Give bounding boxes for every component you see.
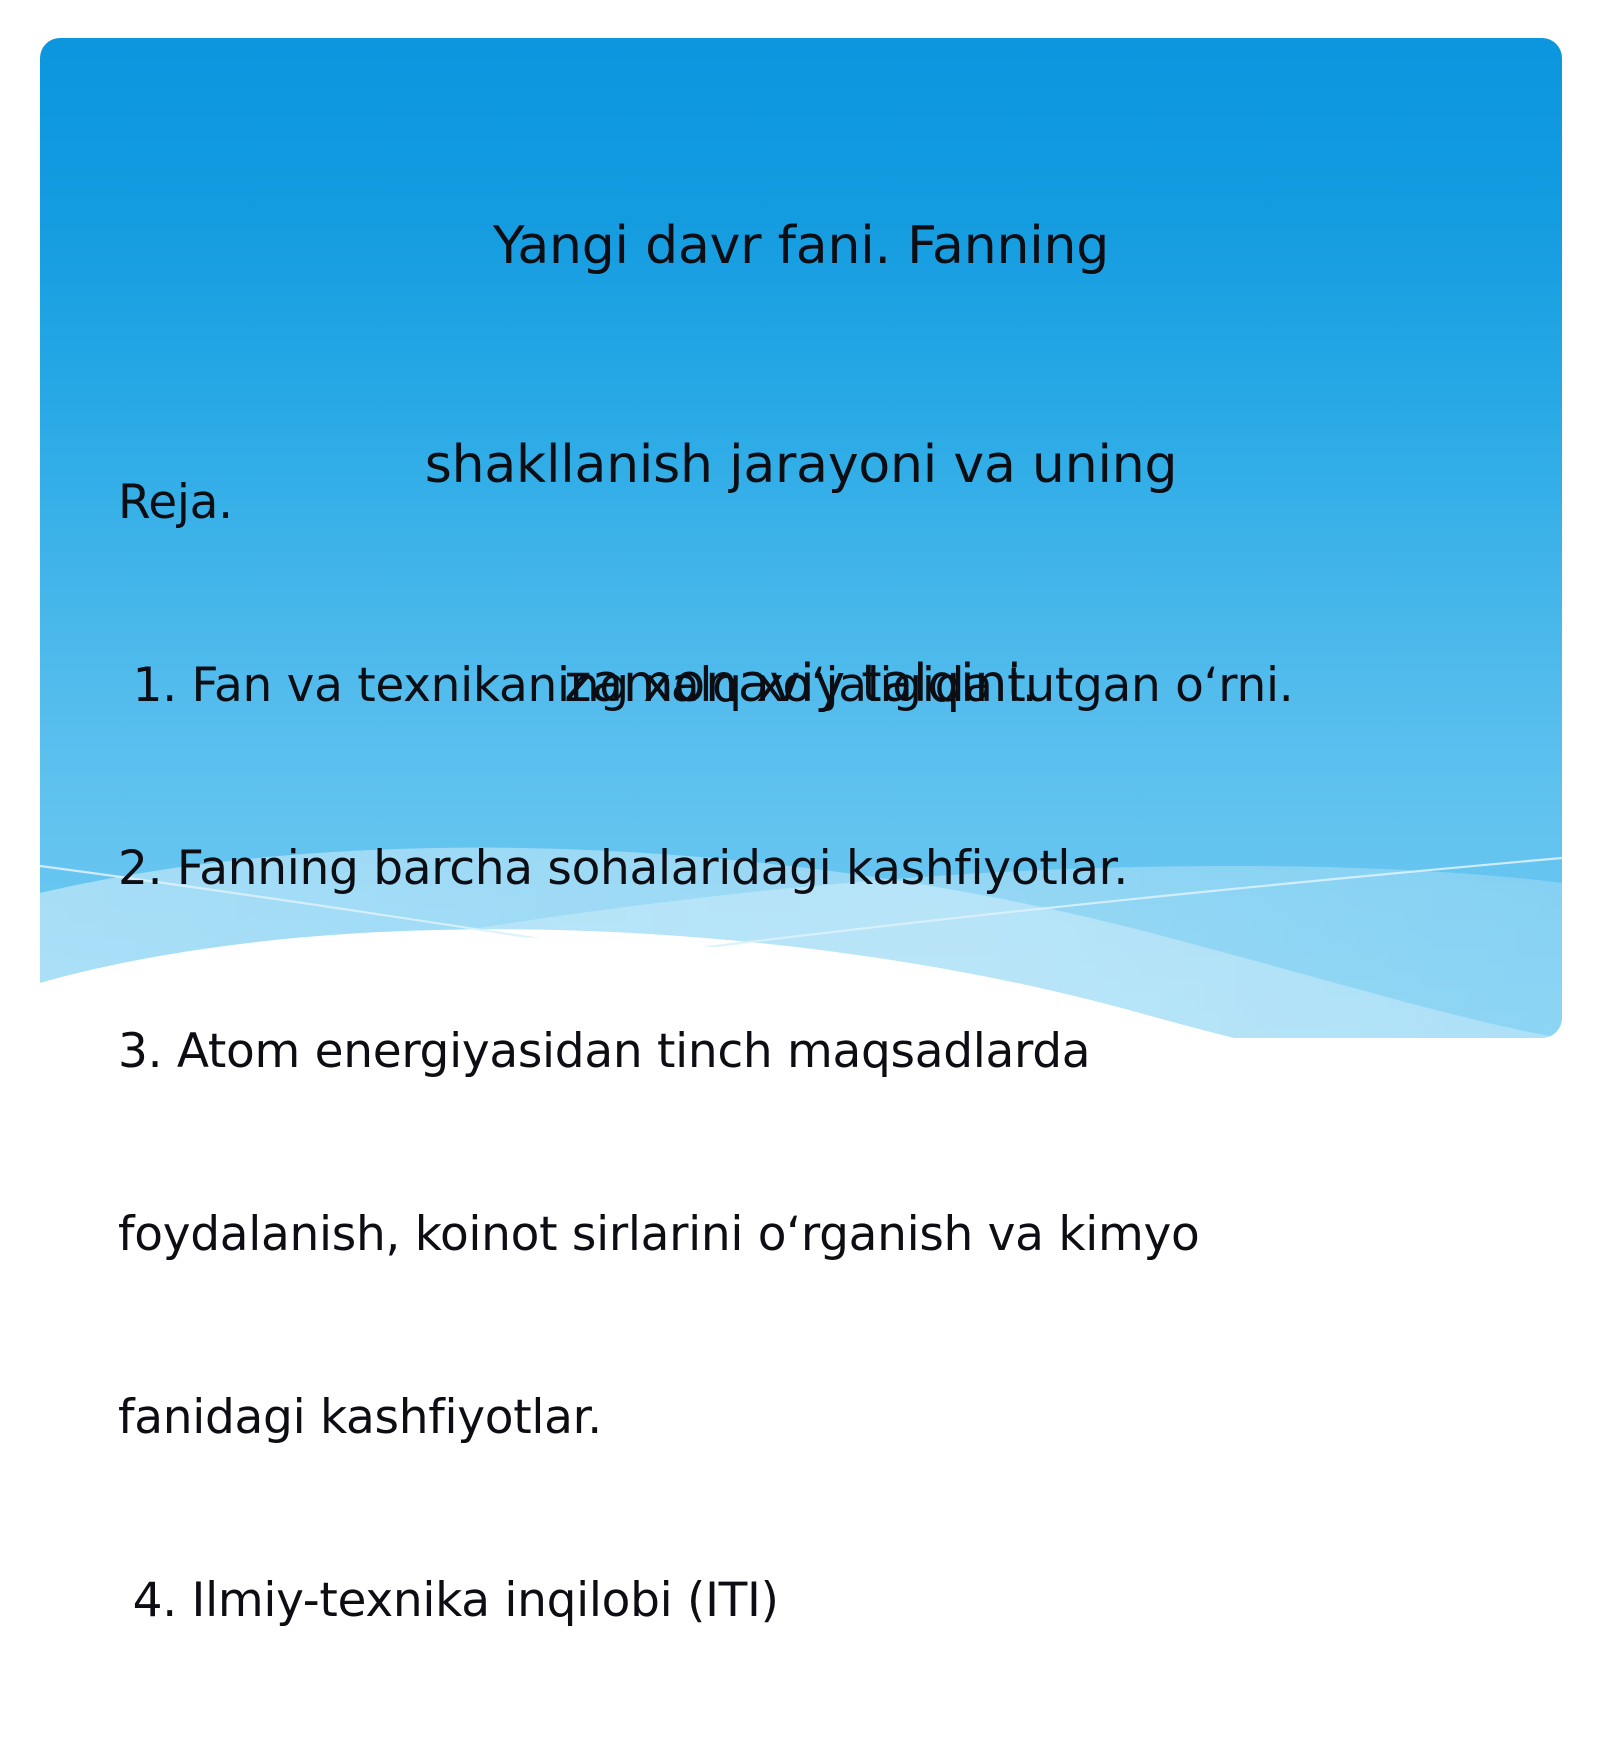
body-line-item-3-cont-2: fanidagi kashfiyotlar. — [118, 1387, 1438, 1448]
body-line-item-2: 2. Fanning barcha sohalaridagi kashfiyot… — [118, 838, 1438, 899]
body-line-item-4: 4. Ilmiy-texnika inqilobi (ITI) — [118, 1570, 1438, 1631]
body-line-item-1: 1. Fan va texnikaning xalq xoʻjaligida t… — [118, 655, 1438, 716]
body-line-item-3-cont-1: foydalanish, koinot sirlarini oʻrganish … — [118, 1204, 1438, 1265]
title-line-1: Yangi davr fani. Fanning — [40, 210, 1562, 283]
body-line-item-3: 3. Atom energiyasidan tinch maqsadlarda — [118, 1021, 1438, 1082]
body-line-heading: Reja. — [118, 472, 1438, 533]
slide-body-outline: Reja. 1. Fan va texnikaning xalq xoʻjali… — [118, 350, 1438, 1753]
slide-canvas: Yangi davr fani. Fanning shakllanish jar… — [0, 0, 1600, 1200]
